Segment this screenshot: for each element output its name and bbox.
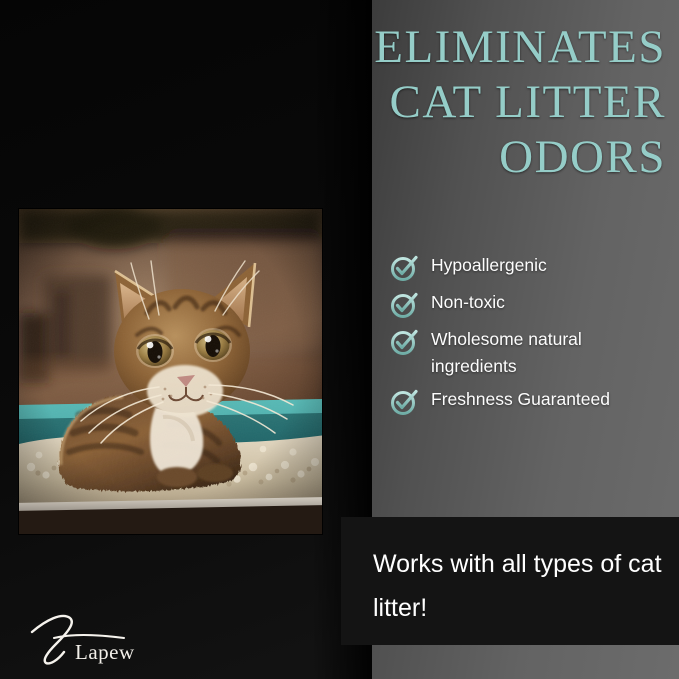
callout-panel: Works with all types of cat litter! [341,517,679,645]
callout-text: Works with all types of cat litter! [373,542,663,630]
headline-line-2: CAT LITTER [300,75,666,130]
brand-name: Lapew [75,640,135,665]
check-circle-icon [389,253,419,283]
headline-line-1: ELIMINATES [300,20,666,75]
list-item-label: Freshness Guaranteed [431,386,610,413]
check-circle-icon [389,327,419,357]
list-item: Freshness Guaranteed [389,386,669,417]
list-item-label: Non-toxic [431,289,505,316]
list-item: Hypoallergenic [389,252,669,283]
headline-line-3: ODORS [300,130,666,185]
list-item: Non-toxic [389,289,669,320]
benefits-list: Hypoallergenic Non-toxic Wholesome natur… [389,252,669,423]
list-item: Wholesome natural ingredients [389,326,669,380]
page-title: ELIMINATES CAT LITTER ODORS [300,20,666,185]
check-circle-icon [389,290,419,320]
list-item-label: Hypoallergenic [431,252,547,279]
brand-logo: Lapew [26,604,176,666]
check-circle-icon [389,387,419,417]
kitten-litter-box-photo [19,209,322,534]
product-advertisement: ELIMINATES CAT LITTER ODORS Hypoallerg [0,0,679,679]
list-item-label: Wholesome natural ingredients [431,326,663,380]
